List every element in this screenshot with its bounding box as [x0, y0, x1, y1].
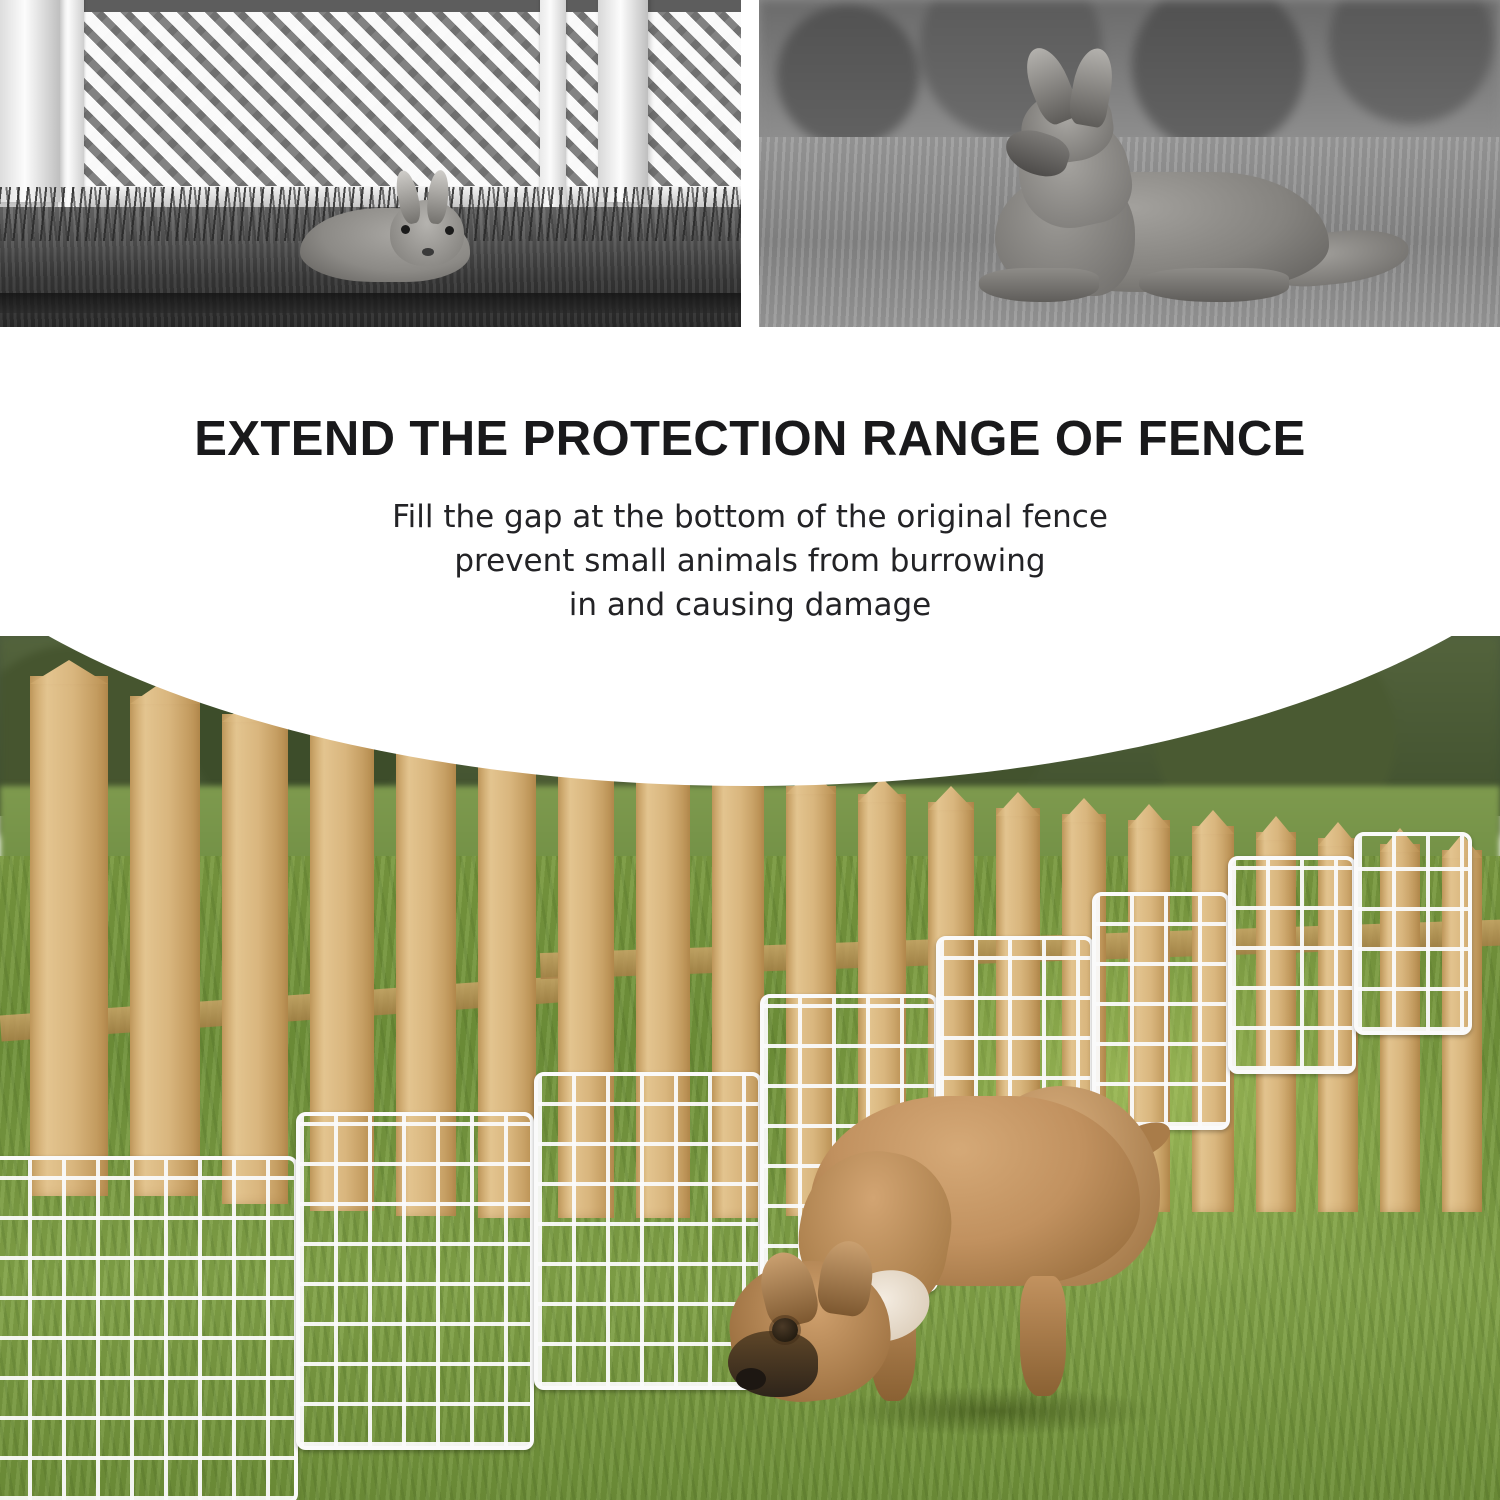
wire-barrier-panel	[1228, 856, 1356, 1074]
subtitle: Fill the gap at the bottom of the origin…	[0, 467, 1500, 627]
lattice-fence-scene	[0, 0, 741, 327]
top-photo-strip	[0, 0, 1500, 327]
subtitle-line-1: Fill the gap at the bottom of the origin…	[392, 499, 1108, 535]
fence-post-left	[0, 0, 60, 202]
rabbit-eye-right	[445, 226, 454, 235]
shepherd-dog	[969, 67, 1389, 302]
subtitle-line-3: in and causing damage	[569, 587, 932, 623]
fence-picket	[130, 696, 200, 1196]
fence-post-right	[598, 0, 648, 202]
lawn-scene	[759, 0, 1500, 327]
fence-picket	[30, 676, 108, 1196]
dog-nose	[736, 1368, 766, 1390]
ground-strip	[0, 293, 741, 313]
rabbit	[300, 192, 470, 282]
dog-hind-leg	[1020, 1276, 1066, 1396]
hero-photo-wire-fence-barrier	[0, 636, 1500, 1500]
rabbit-eye-left	[401, 225, 410, 234]
subtitle-line-2: prevent small animals from burrowing	[454, 543, 1045, 579]
marketing-text-block: EXTEND THE PROTECTION RANGE OF FENCE Fil…	[0, 327, 1500, 677]
french-bulldog	[720, 1056, 1190, 1456]
fence-picket	[222, 714, 288, 1204]
dog-hind-leg	[1139, 268, 1289, 302]
photo-rabbit-by-lattice-fence	[0, 0, 741, 327]
page-title: EXTEND THE PROTECTION RANGE OF FENCE	[0, 327, 1500, 467]
product-infographic: EXTEND THE PROTECTION RANGE OF FENCE Fil…	[0, 0, 1500, 1500]
dog-eye	[772, 1318, 798, 1342]
wire-barrier-panel	[1354, 832, 1472, 1035]
wire-barrier-panel	[296, 1112, 534, 1450]
rabbit-nose	[422, 248, 434, 256]
dog-front-leg	[979, 268, 1099, 302]
wire-barrier-panel	[0, 1156, 298, 1500]
photo-dog-lying-on-lawn	[759, 0, 1500, 327]
